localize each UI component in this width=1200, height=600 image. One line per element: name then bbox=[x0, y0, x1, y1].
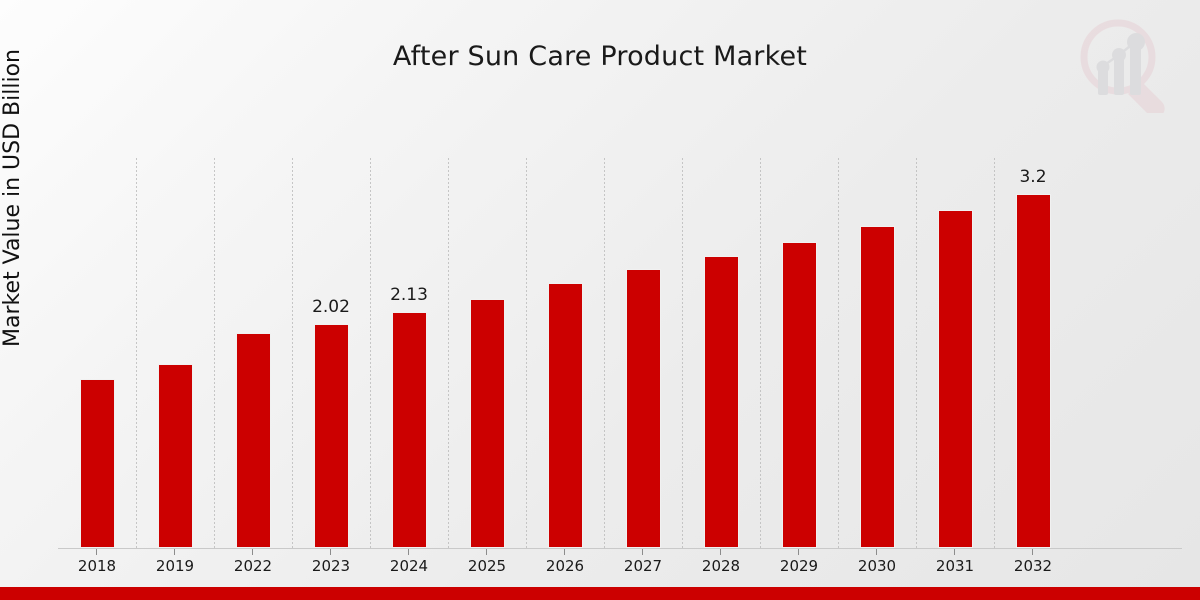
x-tick-label: 2029 bbox=[760, 557, 838, 575]
bar-value-label: 3.2 bbox=[994, 167, 1072, 187]
x-tick-label: 2031 bbox=[916, 557, 994, 575]
bar-group bbox=[526, 158, 604, 548]
y-axis-title: Market Value in USD Billion bbox=[0, 0, 36, 408]
bar-group bbox=[58, 158, 136, 548]
x-tick-label: 2024 bbox=[370, 557, 448, 575]
bar[interactable] bbox=[938, 210, 973, 548]
x-tick-mark bbox=[1032, 549, 1033, 555]
x-tick-label: 2032 bbox=[994, 557, 1072, 575]
bar[interactable] bbox=[1016, 194, 1051, 548]
x-tick-mark bbox=[252, 549, 253, 555]
x-tick-mark bbox=[954, 549, 955, 555]
bar-value-label: 2.13 bbox=[370, 285, 448, 305]
chart-canvas: After Sun Care Product Market Market Val… bbox=[0, 0, 1200, 600]
bar[interactable] bbox=[548, 283, 583, 548]
x-tick-label: 2018 bbox=[58, 557, 136, 575]
plot-area: 2.022.133.2 bbox=[58, 158, 1178, 548]
x-tick-mark bbox=[174, 549, 175, 555]
bar-group bbox=[136, 158, 214, 548]
x-tick-label: 2028 bbox=[682, 557, 760, 575]
bar-value-label: 2.02 bbox=[292, 297, 370, 317]
x-tick-mark bbox=[720, 549, 721, 555]
x-axis-line bbox=[58, 548, 1182, 549]
x-tick-label: 2023 bbox=[292, 557, 370, 575]
bar-group bbox=[448, 158, 526, 548]
bar[interactable] bbox=[704, 256, 739, 548]
bar-group bbox=[916, 158, 994, 548]
bar[interactable] bbox=[158, 364, 193, 548]
bar[interactable] bbox=[782, 242, 817, 548]
x-tick-label: 2022 bbox=[214, 557, 292, 575]
bar-group bbox=[838, 158, 916, 548]
x-tick-mark bbox=[642, 549, 643, 555]
x-tick-mark bbox=[330, 549, 331, 555]
x-tick-label: 2026 bbox=[526, 557, 604, 575]
bar-group: 3.2 bbox=[994, 158, 1072, 548]
bar[interactable] bbox=[314, 324, 349, 548]
bar[interactable] bbox=[236, 333, 271, 548]
x-tick-label: 2030 bbox=[838, 557, 916, 575]
x-tick-mark bbox=[798, 549, 799, 555]
bar[interactable] bbox=[470, 299, 505, 548]
x-tick-label: 2027 bbox=[604, 557, 682, 575]
x-tick-label: 2025 bbox=[448, 557, 526, 575]
x-tick-mark bbox=[486, 549, 487, 555]
bar-group bbox=[604, 158, 682, 548]
bar[interactable] bbox=[392, 312, 427, 548]
bar[interactable] bbox=[626, 269, 661, 548]
x-tick-mark bbox=[564, 549, 565, 555]
chart-title: After Sun Care Product Market bbox=[0, 41, 1200, 72]
x-tick-label: 2019 bbox=[136, 557, 214, 575]
bar[interactable] bbox=[860, 226, 895, 548]
bar-group bbox=[214, 158, 292, 548]
bar[interactable] bbox=[80, 379, 115, 548]
bar-group bbox=[682, 158, 760, 548]
bar-group: 2.13 bbox=[370, 158, 448, 548]
x-tick-mark bbox=[408, 549, 409, 555]
bar-group bbox=[760, 158, 838, 548]
footer-strip bbox=[0, 587, 1200, 600]
bar-group: 2.02 bbox=[292, 158, 370, 548]
x-tick-mark bbox=[876, 549, 877, 555]
x-tick-mark bbox=[96, 549, 97, 555]
